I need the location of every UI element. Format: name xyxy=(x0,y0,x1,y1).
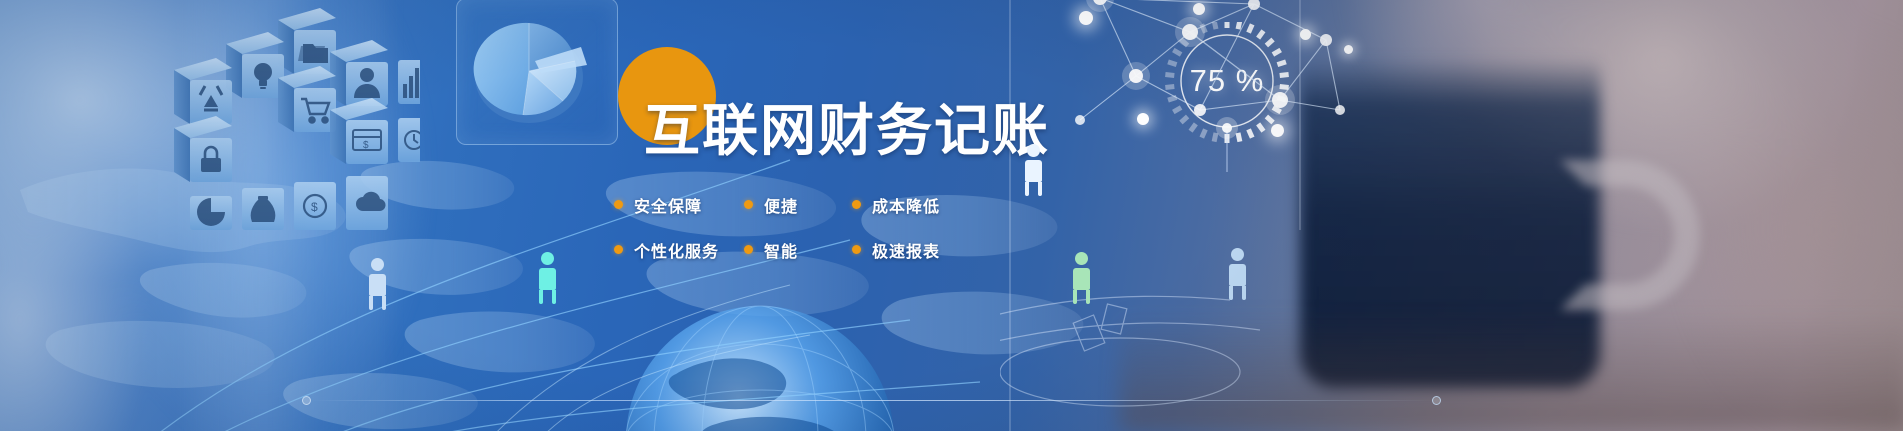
marketing-banner: $ xyxy=(0,0,1903,431)
vignette-overlay xyxy=(0,0,1903,431)
